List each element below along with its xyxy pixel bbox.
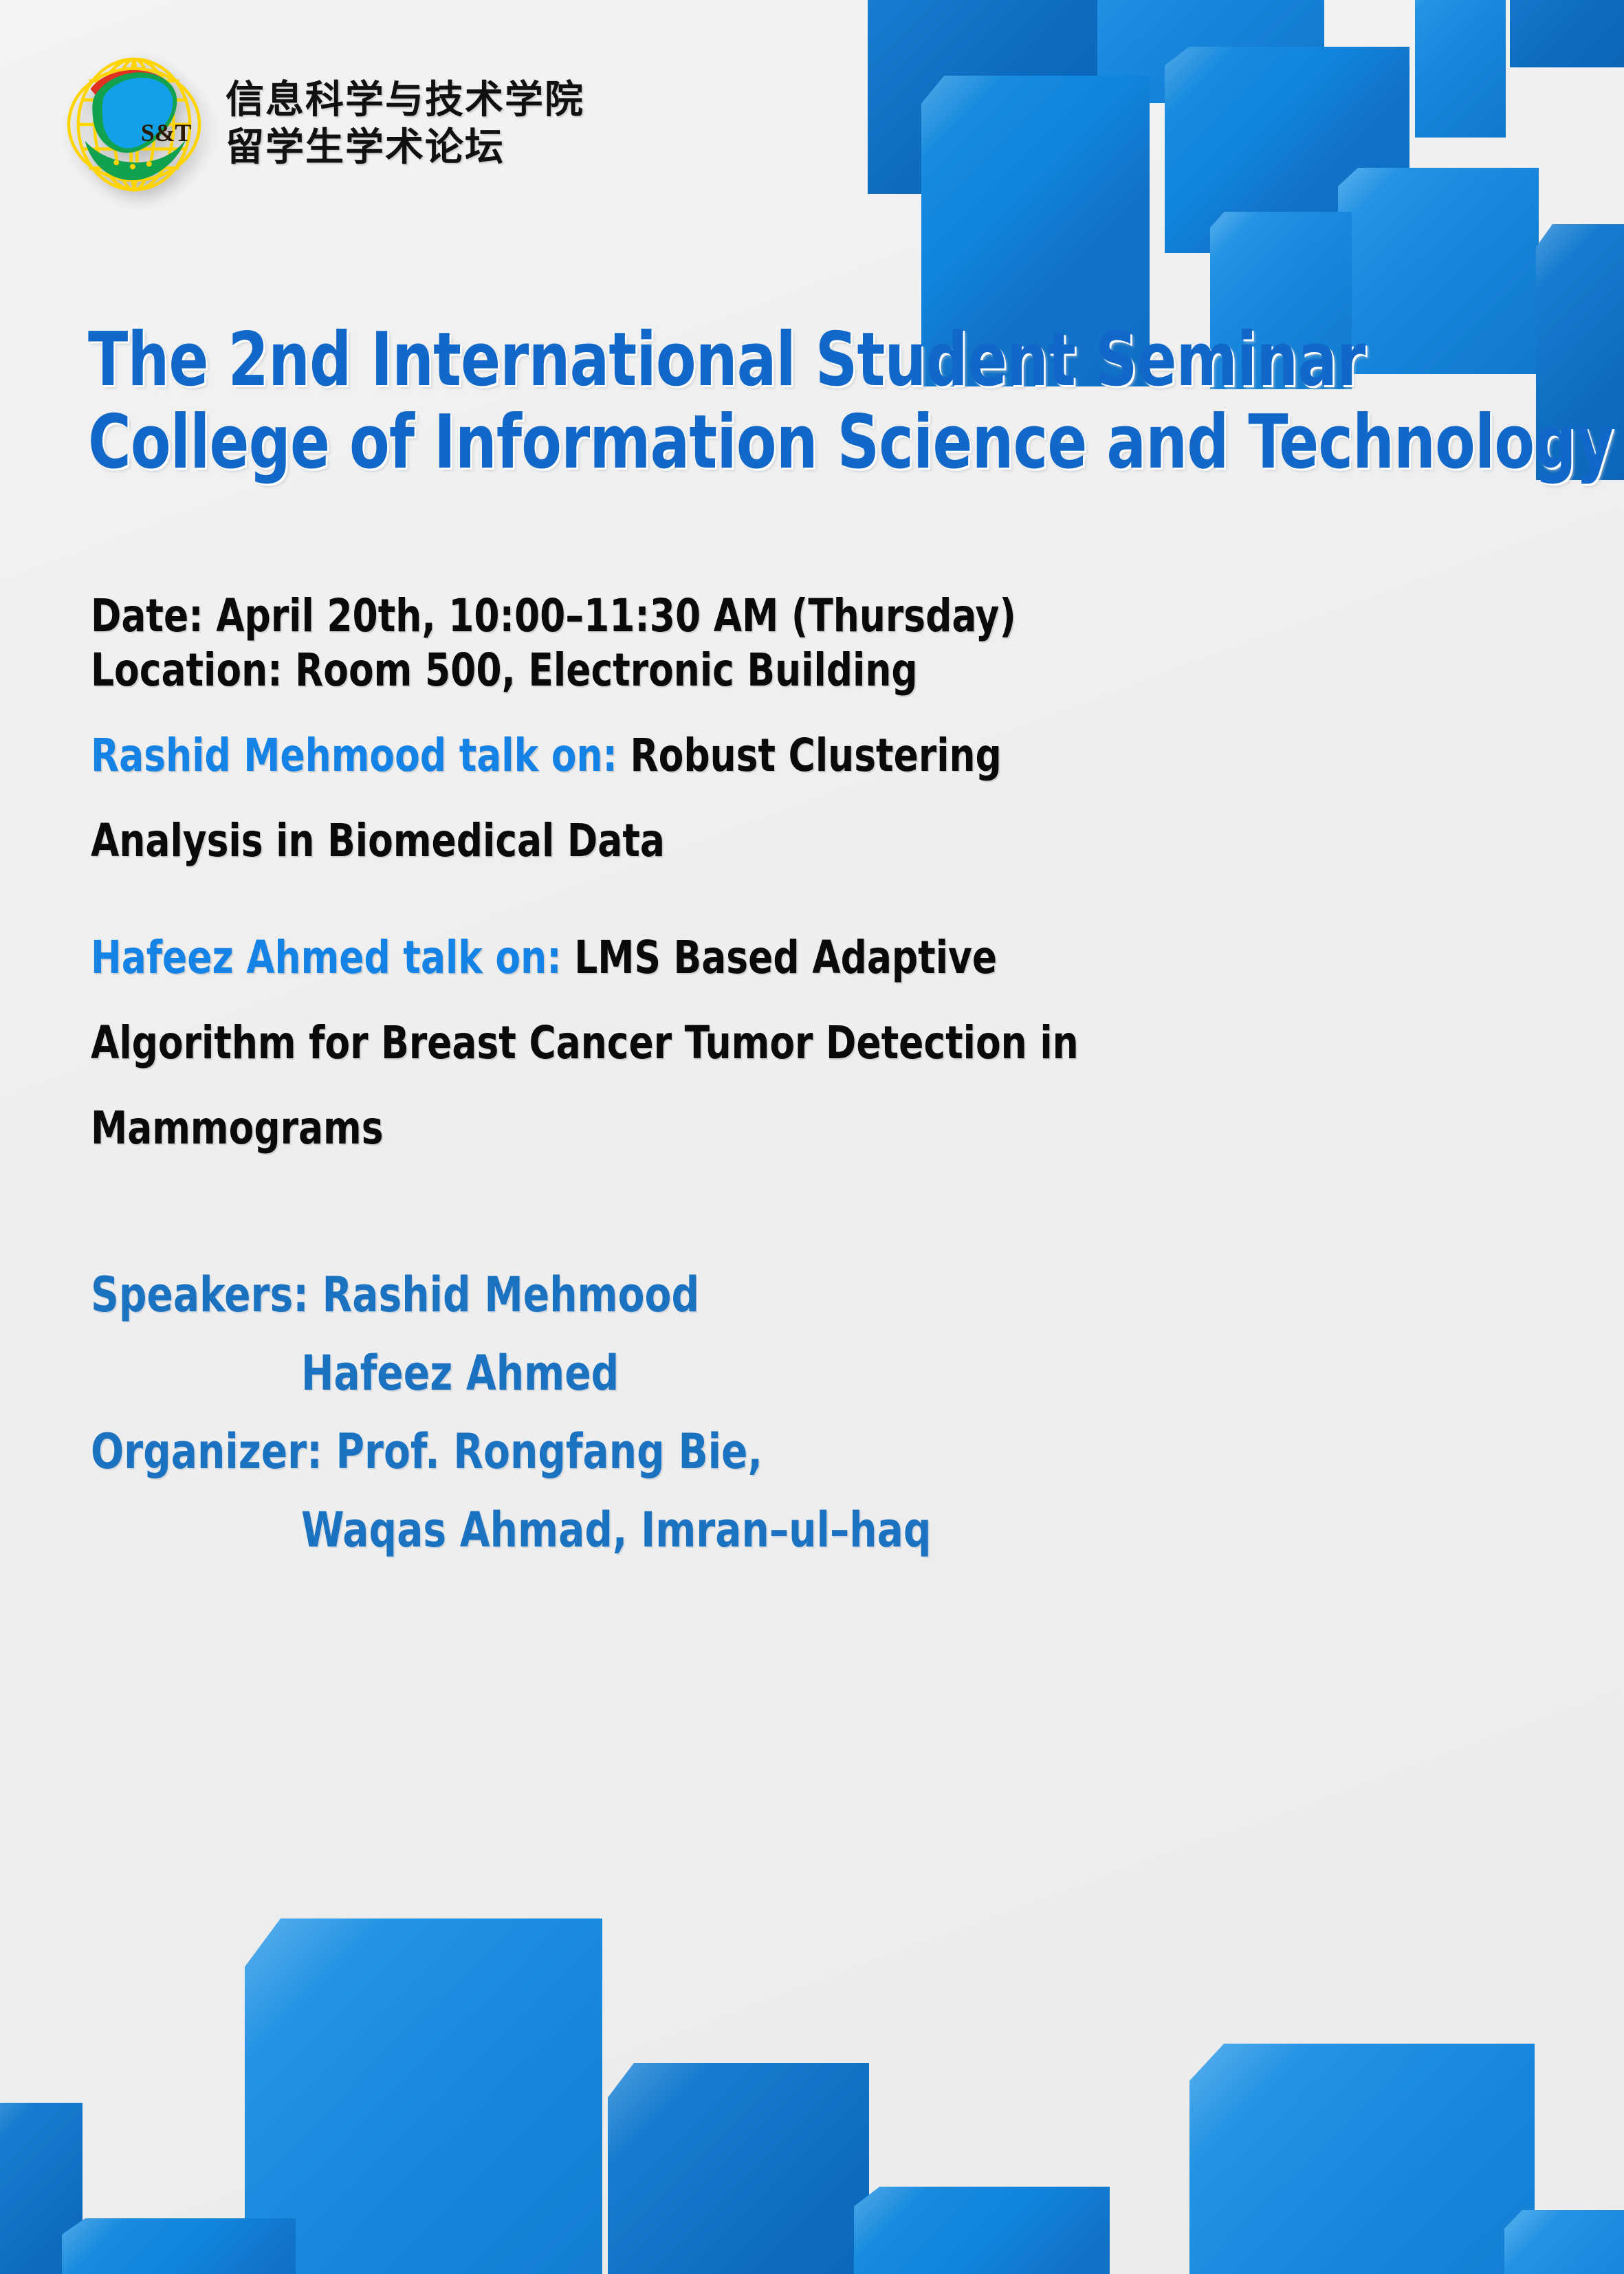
speakers-line-2: Hafeez Ahmed <box>91 1349 1378 1397</box>
talk-1-line-2: Analysis in Biomedical Data <box>91 818 1378 864</box>
organizer-line-2: Waqas Ahmad, Imran–ul–haq <box>91 1506 1378 1554</box>
talk-1-line-1: Rashid Mehmood talk on: Robust Clusterin… <box>91 733 1378 778</box>
poster-body: Date: April 20th, 10:00–11:30 AM (Thursd… <box>91 589 1521 1584</box>
decor-block-bottom-7 <box>1504 2210 1624 2274</box>
decor-block-bottom-4 <box>1189 2044 1535 2274</box>
title-line-2: College of Information Science and Techn… <box>88 406 1613 480</box>
logo-st-text: S&T <box>141 119 191 146</box>
decor-block-bottom-1 <box>245 1918 602 2274</box>
decor-block-bottom-2 <box>608 2063 869 2274</box>
speakers-line-1: Speakers: Rashid Mehmood <box>91 1271 1378 1319</box>
decor-block-bottom-6 <box>62 2218 296 2274</box>
university-logo-icon: S&T <box>66 54 202 195</box>
decor-block-top-5 <box>1510 0 1624 67</box>
organization-names: 信息科学与技术学院 留学生学术论坛 <box>226 79 584 169</box>
talk-2-title-part-1: LMS Based Adaptive <box>574 931 997 984</box>
decor-block-top-4 <box>1415 0 1506 138</box>
spacer-after-info <box>91 697 1521 733</box>
title-line-1: The 2nd International Student Seminar <box>88 323 1613 397</box>
poster-header: S&T 信息科学与技术学院 留学生学术论坛 <box>66 54 584 195</box>
event-location: Location: Room 500, Electronic Building <box>91 643 1378 697</box>
talk-2-speaker: Hafeez Ahmed talk on: <box>91 931 562 984</box>
poster-title: The 2nd International Student Seminar Co… <box>88 323 1624 488</box>
org-line-chinese-1: 信息科学与技术学院 <box>226 79 584 122</box>
talk-1-speaker: Rashid Mehmood talk on: <box>91 729 617 782</box>
talk-2-line-3: Mammograms <box>91 1106 1378 1151</box>
event-date: Date: April 20th, 10:00–11:30 AM (Thursd… <box>91 589 1378 643</box>
spacer-before-credits <box>91 1191 1521 1271</box>
decor-block-bottom-3 <box>854 2187 1110 2274</box>
talk-1-title-part-1: Robust Clustering <box>630 729 1001 782</box>
talk-2-line-1: Hafeez Ahmed talk on: LMS Based Adaptive <box>91 935 1378 981</box>
poster-canvas: S&T 信息科学与技术学院 留学生学术论坛 The 2nd Internatio… <box>0 0 1624 2274</box>
organizer-line-1: Organizer: Prof. Rongfang Bie, <box>91 1428 1378 1476</box>
org-line-chinese-2: 留学生学术论坛 <box>226 127 584 170</box>
talk-2-line-2: Algorithm for Breast Cancer Tumor Detect… <box>91 1020 1378 1066</box>
